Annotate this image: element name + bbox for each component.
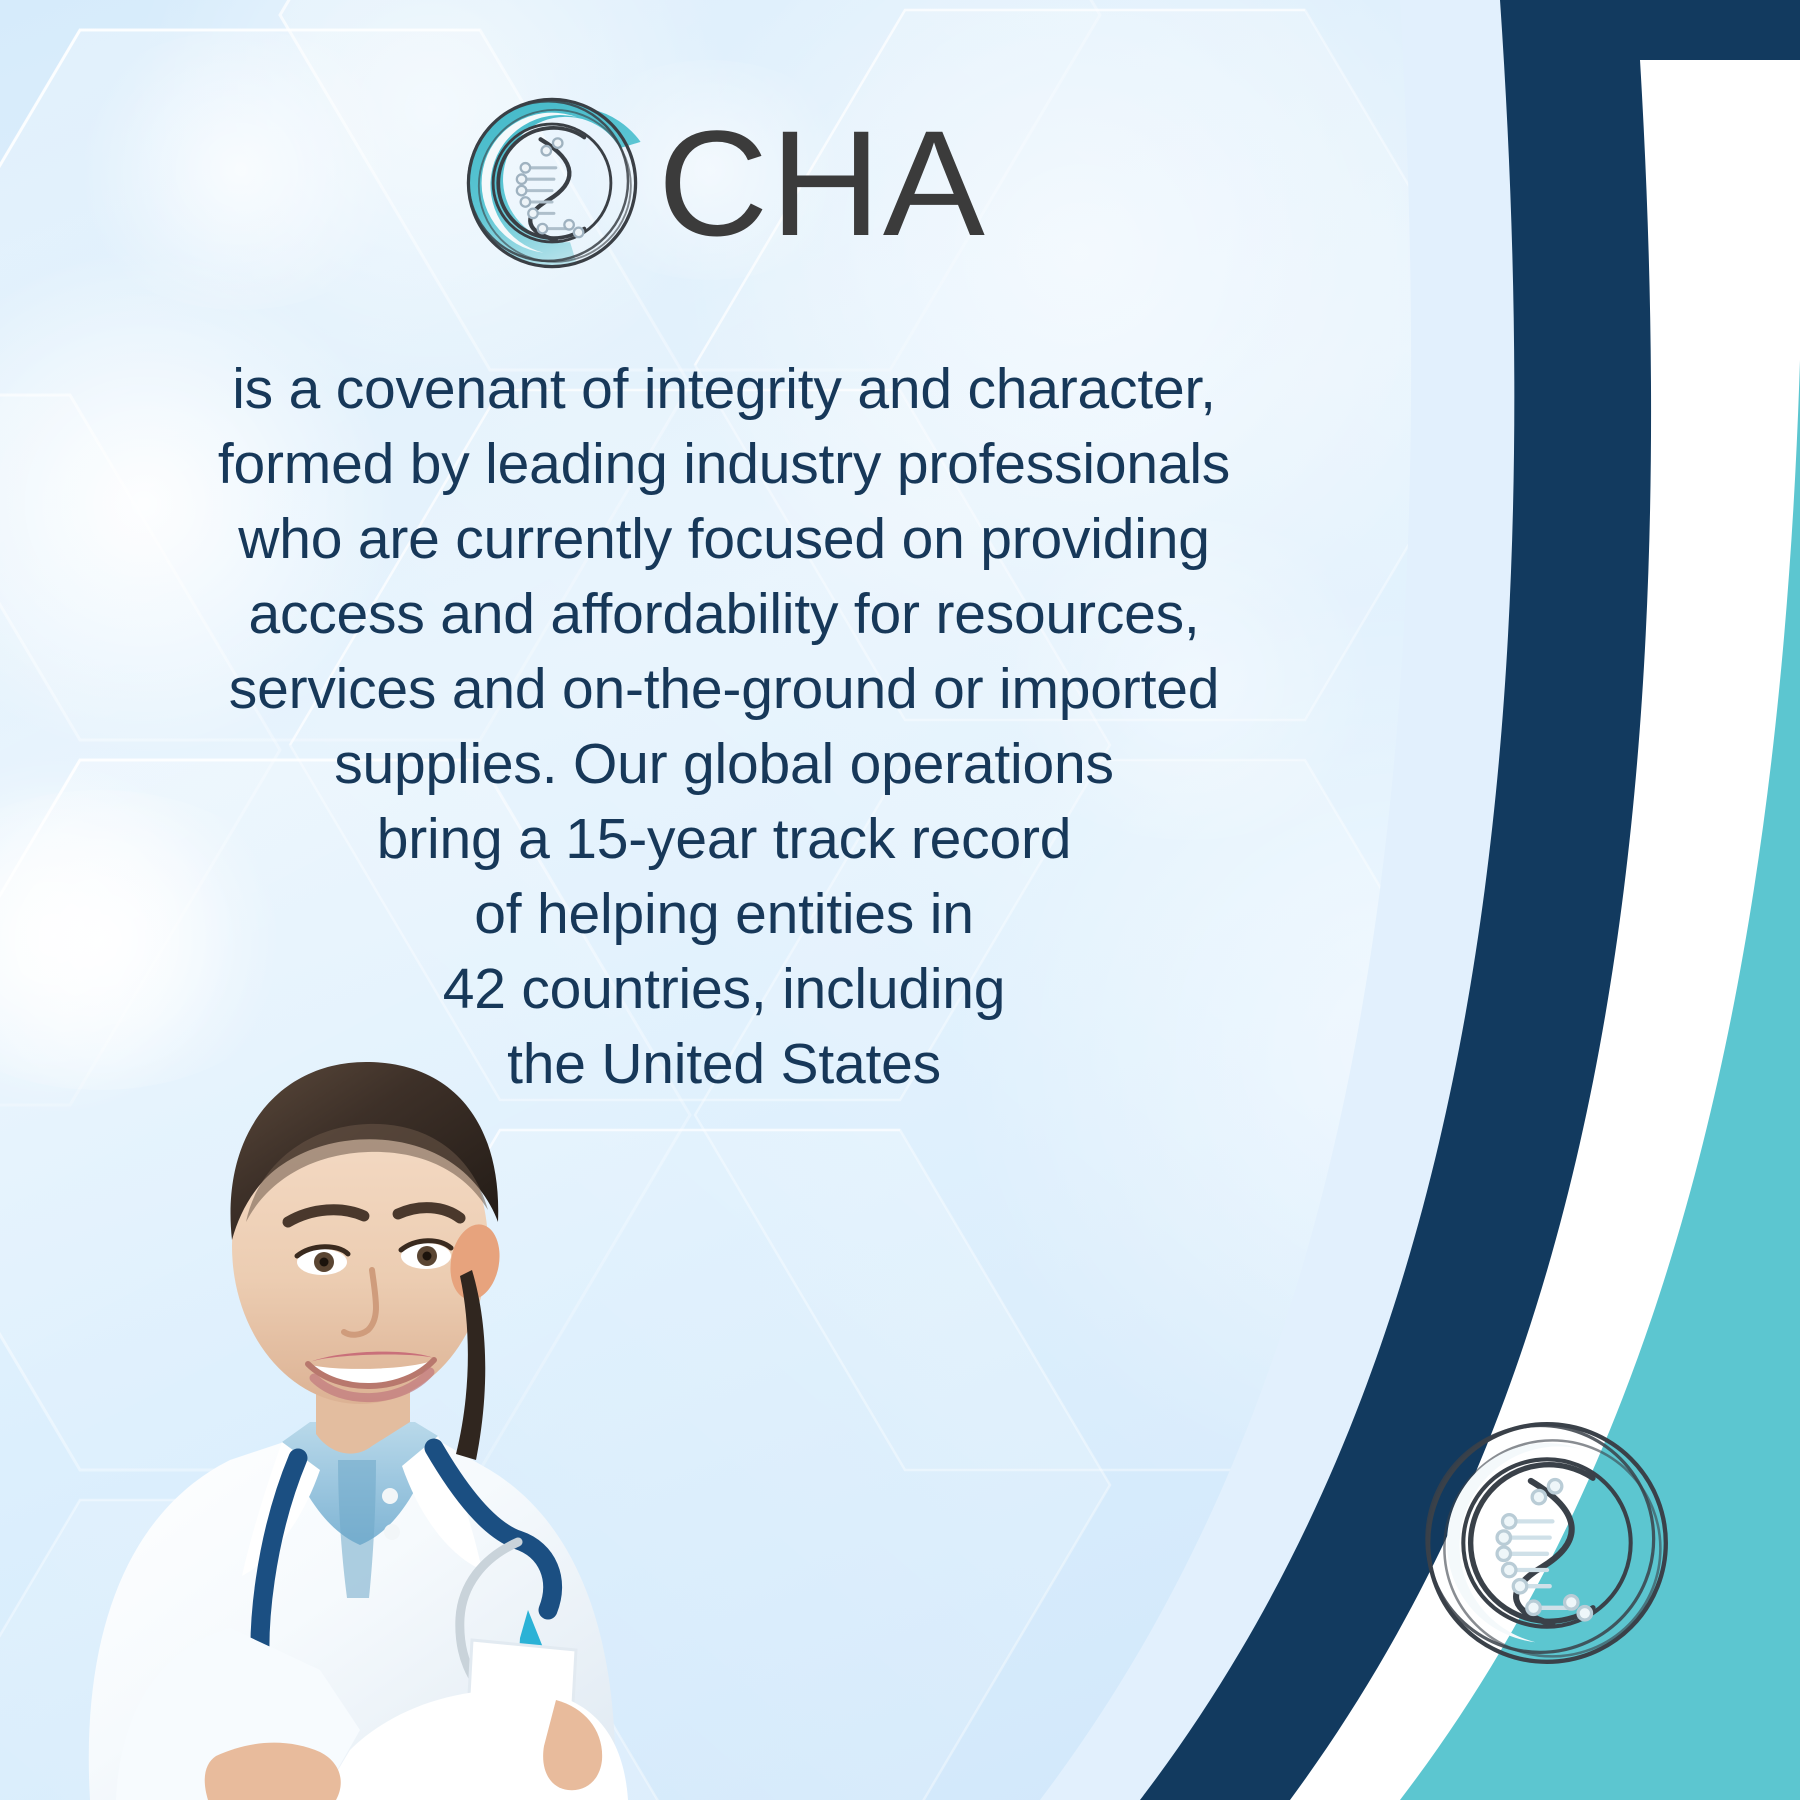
copy-line: supplies. Our global operations — [0, 727, 1448, 802]
copy-line: access and affordability for resources, — [0, 577, 1448, 652]
copy-line: formed by leading industry professionals — [0, 427, 1448, 502]
copy-line: services and on-the-ground or imported — [0, 652, 1448, 727]
copy-line: bring a 15-year track record — [0, 802, 1448, 877]
brand-lockup: CHA — [0, 88, 1440, 278]
copy-line: of helping entities in — [0, 877, 1448, 952]
poster-canvas: CHA is a covenant of integrity and chara… — [0, 0, 1800, 1800]
cha-logo-icon — [457, 88, 647, 278]
copy-line: the United States — [0, 1027, 1448, 1102]
copy-line: who are currently focused on providing — [0, 502, 1448, 577]
body-copy: is a covenant of integrity and character… — [0, 352, 1448, 1102]
cha-watermark-icon — [1412, 1408, 1682, 1678]
copy-line: 42 countries, including — [0, 952, 1448, 1027]
copy-line: is a covenant of integrity and character… — [0, 352, 1448, 427]
brand-name: CHA — [657, 108, 986, 258]
